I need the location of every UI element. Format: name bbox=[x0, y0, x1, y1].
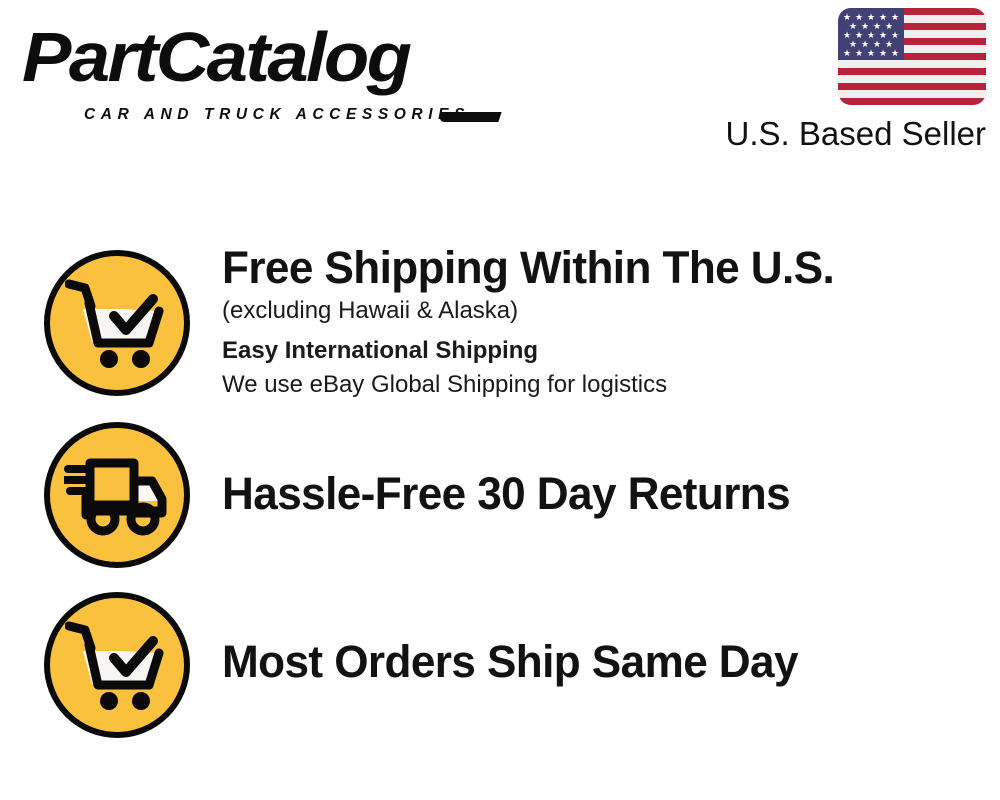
flag-stars: ★ ★ ★ ★ ★ ★ ★ ★ ★ ★ ★ ★ ★ ★ ★ ★ ★ ★ ★ ★ … bbox=[838, 8, 904, 60]
feature-text-block: Hassle-Free 30 Day Returns bbox=[222, 468, 982, 520]
shopping-cart-check-icon bbox=[44, 592, 190, 738]
feature-text-block: Free Shipping Within The U.S. (excluding… bbox=[222, 242, 982, 402]
brand-wordmark: PartCatalog bbox=[22, 14, 409, 100]
feature-row-same-day-ship: Most Orders Ship Same Day bbox=[0, 592, 1000, 742]
delivery-truck-icon bbox=[44, 422, 190, 568]
feature-heading: Hassle-Free 30 Day Returns bbox=[222, 468, 967, 520]
feature-heading: Free Shipping Within The U.S. bbox=[222, 242, 967, 294]
brand-tagline: CAR AND TRUCK ACCESSORIES bbox=[84, 106, 470, 124]
feature-subtext-exclusions: (excluding Hawaii & Alaska) bbox=[222, 294, 982, 328]
flag-stripe bbox=[838, 98, 986, 105]
feature-text-block: Most Orders Ship Same Day bbox=[222, 636, 982, 688]
feature-heading: Most Orders Ship Same Day bbox=[222, 636, 967, 688]
feature-row-returns: Hassle-Free 30 Day Returns bbox=[0, 422, 1000, 572]
shopping-cart-check-icon bbox=[44, 250, 190, 396]
us-flag-icon: ★ ★ ★ ★ ★ ★ ★ ★ ★ ★ ★ ★ ★ ★ ★ ★ ★ ★ ★ ★ … bbox=[838, 8, 986, 105]
feature-subtext-logistics: We use eBay Global Shipping for logistic… bbox=[222, 368, 982, 402]
flag-stripe bbox=[838, 68, 986, 75]
feature-row-free-shipping: Free Shipping Within The U.S. (excluding… bbox=[0, 250, 1000, 410]
brand-logo[interactable]: PartCatalog CAR AND TRUCK ACCESSORIES bbox=[22, 20, 492, 115]
page-header: PartCatalog CAR AND TRUCK ACCESSORIES ★ … bbox=[0, 0, 1000, 180]
flag-stripe bbox=[838, 83, 986, 90]
brand-swoosh-decoration bbox=[438, 112, 501, 122]
feature-subtext-international: Easy International Shipping bbox=[222, 334, 982, 368]
us-based-seller-label: U.S. Based Seller bbox=[726, 115, 986, 153]
